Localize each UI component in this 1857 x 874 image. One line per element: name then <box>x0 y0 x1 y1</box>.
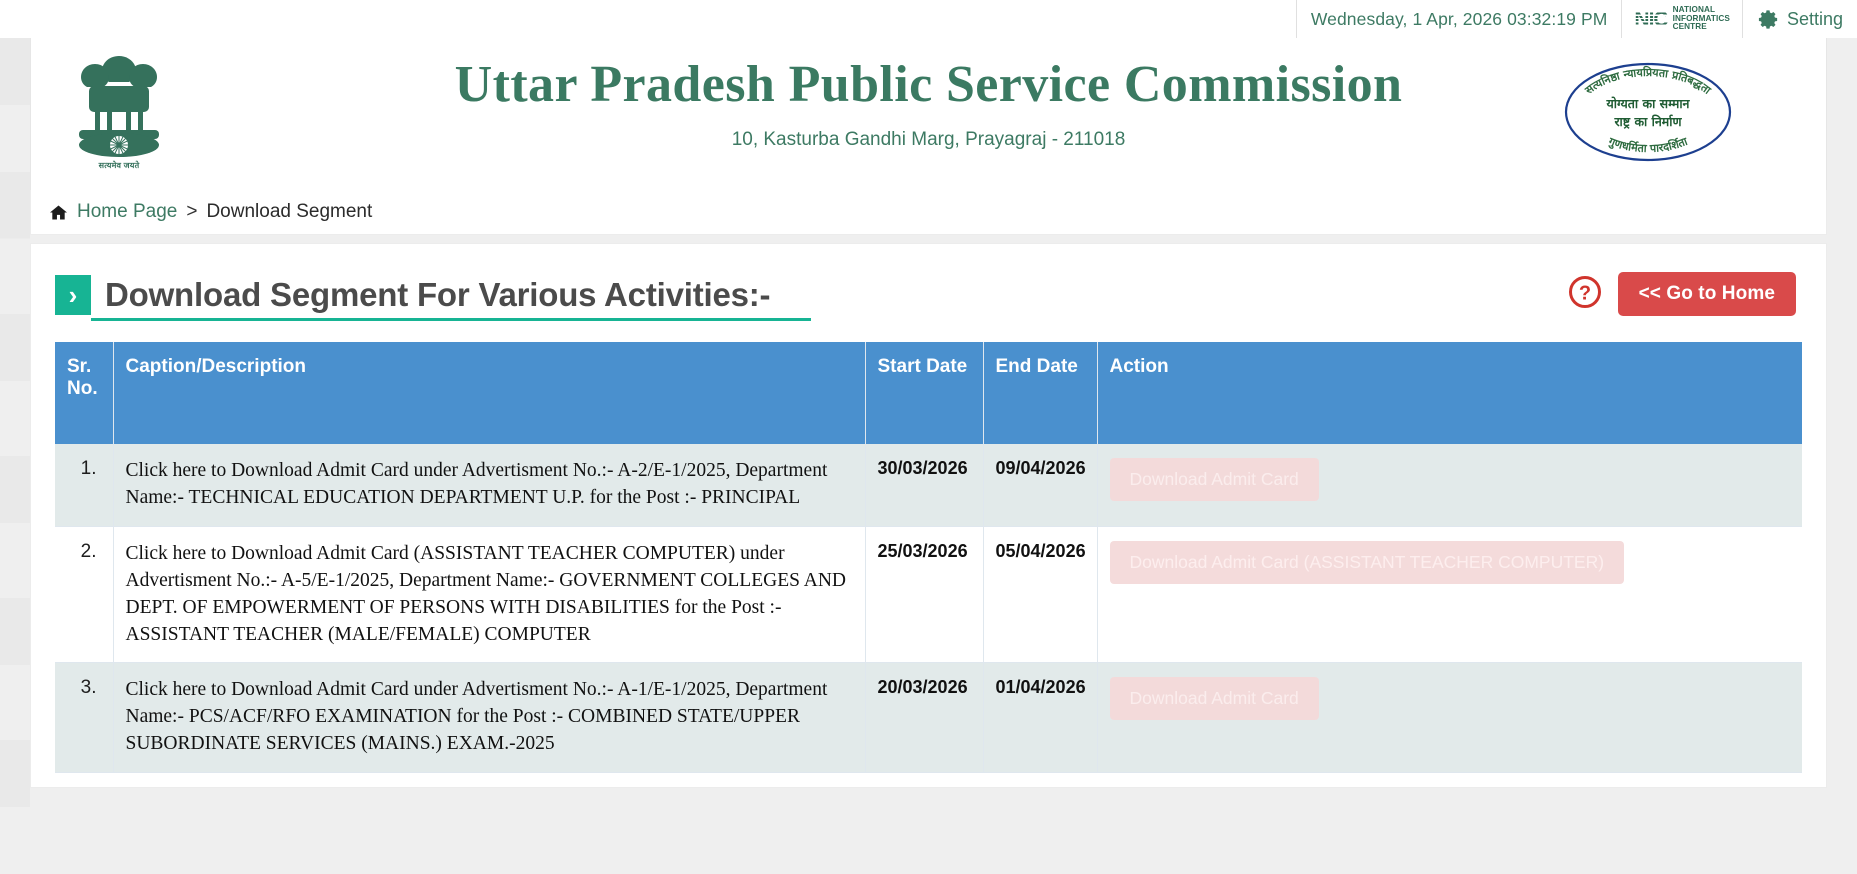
row-serial-number: 2. <box>55 526 113 663</box>
row-start-date: 25/03/2026 <box>865 526 983 663</box>
uppsc-seal-icon: सत्यनिष्ठा न्यायप्रियता प्रतिबद्धता योग्… <box>1562 60 1734 164</box>
table-row: 2. Click here to Download Admit Card (AS… <box>55 526 1802 663</box>
breadcrumb-separator: > <box>186 201 197 223</box>
row-end-date: 01/04/2026 <box>983 663 1097 773</box>
row-action-cell: Download Admit Card <box>1097 663 1802 773</box>
table-row: 3. Click here to Download Admit Card und… <box>55 663 1802 773</box>
table-row: 1. Click here to Download Admit Card und… <box>55 444 1802 526</box>
row-action-cell: Download Admit Card <box>1097 444 1802 526</box>
table-head: Sr. No. Caption/Description Start Date E… <box>55 342 1802 444</box>
setting-button[interactable]: Setting <box>1742 0 1857 38</box>
column-header-action: Action <box>1097 342 1802 444</box>
column-header-description: Caption/Description <box>113 342 865 444</box>
nic-line-3: CENTRE <box>1673 22 1707 31</box>
row-action-cell: Download Admit Card (ASSISTANT TEACHER C… <box>1097 526 1802 663</box>
row-start-date: 30/03/2026 <box>865 444 983 526</box>
download-admit-card-button[interactable]: Download Admit Card <box>1110 458 1319 501</box>
svg-text:?: ? <box>1578 282 1590 304</box>
nic-mark-text: NIC <box>1634 9 1667 30</box>
row-serial-number: 1. <box>55 444 113 526</box>
top-utility-bar: Wednesday, 1 Apr, 2026 03:32:19 PM NIC N… <box>0 0 1857 38</box>
table-body: 1. Click here to Download Admit Card und… <box>55 444 1802 773</box>
row-end-date: 09/04/2026 <box>983 444 1097 526</box>
chevron-right-icon: › <box>55 275 91 315</box>
current-datetime: Wednesday, 1 Apr, 2026 03:32:19 PM <box>1311 9 1608 30</box>
column-header-start-date: Start Date <box>865 342 983 444</box>
breadcrumb-current: Download Segment <box>206 201 372 223</box>
table-header-row: Sr. No. Caption/Description Start Date E… <box>55 342 1802 444</box>
organization-address: 10, Kasturba Gandhi Marg, Prayagraj - 21… <box>31 129 1826 151</box>
title-underline <box>91 318 811 321</box>
seal-line-1: योग्यता का सम्मान <box>1606 96 1691 111</box>
column-header-sr-no: Sr. No. <box>55 342 113 444</box>
download-table-wrapper: Sr. No. Caption/Description Start Date E… <box>55 342 1802 773</box>
download-segment-table: Sr. No. Caption/Description Start Date E… <box>55 342 1802 773</box>
nic-logo: NIC NATIONAL INFORMATICS CENTRE <box>1621 0 1742 38</box>
go-to-home-button[interactable]: << Go to Home <box>1618 272 1796 316</box>
row-start-date: 20/03/2026 <box>865 663 983 773</box>
help-question-icon[interactable]: ? <box>1568 275 1602 314</box>
row-description: Click here to Download Admit Card under … <box>113 444 865 526</box>
seal-line-2: राष्ट्र का निर्माण <box>1613 114 1682 129</box>
download-admit-card-button[interactable]: Download Admit Card (ASSISTANT TEACHER C… <box>1110 541 1625 584</box>
row-description: Click here to Download Admit Card (ASSIS… <box>113 526 865 663</box>
page-title: Download Segment For Various Activities:… <box>105 276 770 314</box>
row-serial-number: 3. <box>55 663 113 773</box>
page-actions: ? << Go to Home <box>1568 272 1796 316</box>
breadcrumb-home-link[interactable]: Home Page <box>77 201 177 223</box>
column-header-end-date: End Date <box>983 342 1097 444</box>
nic-words: NATIONAL INFORMATICS CENTRE <box>1673 6 1730 32</box>
download-admit-card-button[interactable]: Download Admit Card <box>1110 677 1319 720</box>
content-card: › Download Segment For Various Activitie… <box>30 243 1827 788</box>
row-description: Click here to Download Admit Card under … <box>113 663 865 773</box>
site-header: सत्यमेव जयते Uttar Pradesh Public Servic… <box>30 38 1827 190</box>
breadcrumb: Home Page > Download Segment <box>30 190 1827 235</box>
home-icon <box>49 204 68 221</box>
app-page: Wednesday, 1 Apr, 2026 03:32:19 PM NIC N… <box>0 0 1857 874</box>
row-end-date: 05/04/2026 <box>983 526 1097 663</box>
gear-icon <box>1757 8 1780 31</box>
organization-title: Uttar Pradesh Public Service Commission <box>31 52 1826 117</box>
organization-block: Uttar Pradesh Public Service Commission … <box>31 52 1826 151</box>
page-title-row: › Download Segment For Various Activitie… <box>55 266 1802 324</box>
emblem-caption: सत्यमेव जयते <box>63 160 175 171</box>
datetime-cell: Wednesday, 1 Apr, 2026 03:32:19 PM <box>1296 0 1622 38</box>
page-left-margin <box>0 38 30 874</box>
setting-label: Setting <box>1787 9 1843 30</box>
